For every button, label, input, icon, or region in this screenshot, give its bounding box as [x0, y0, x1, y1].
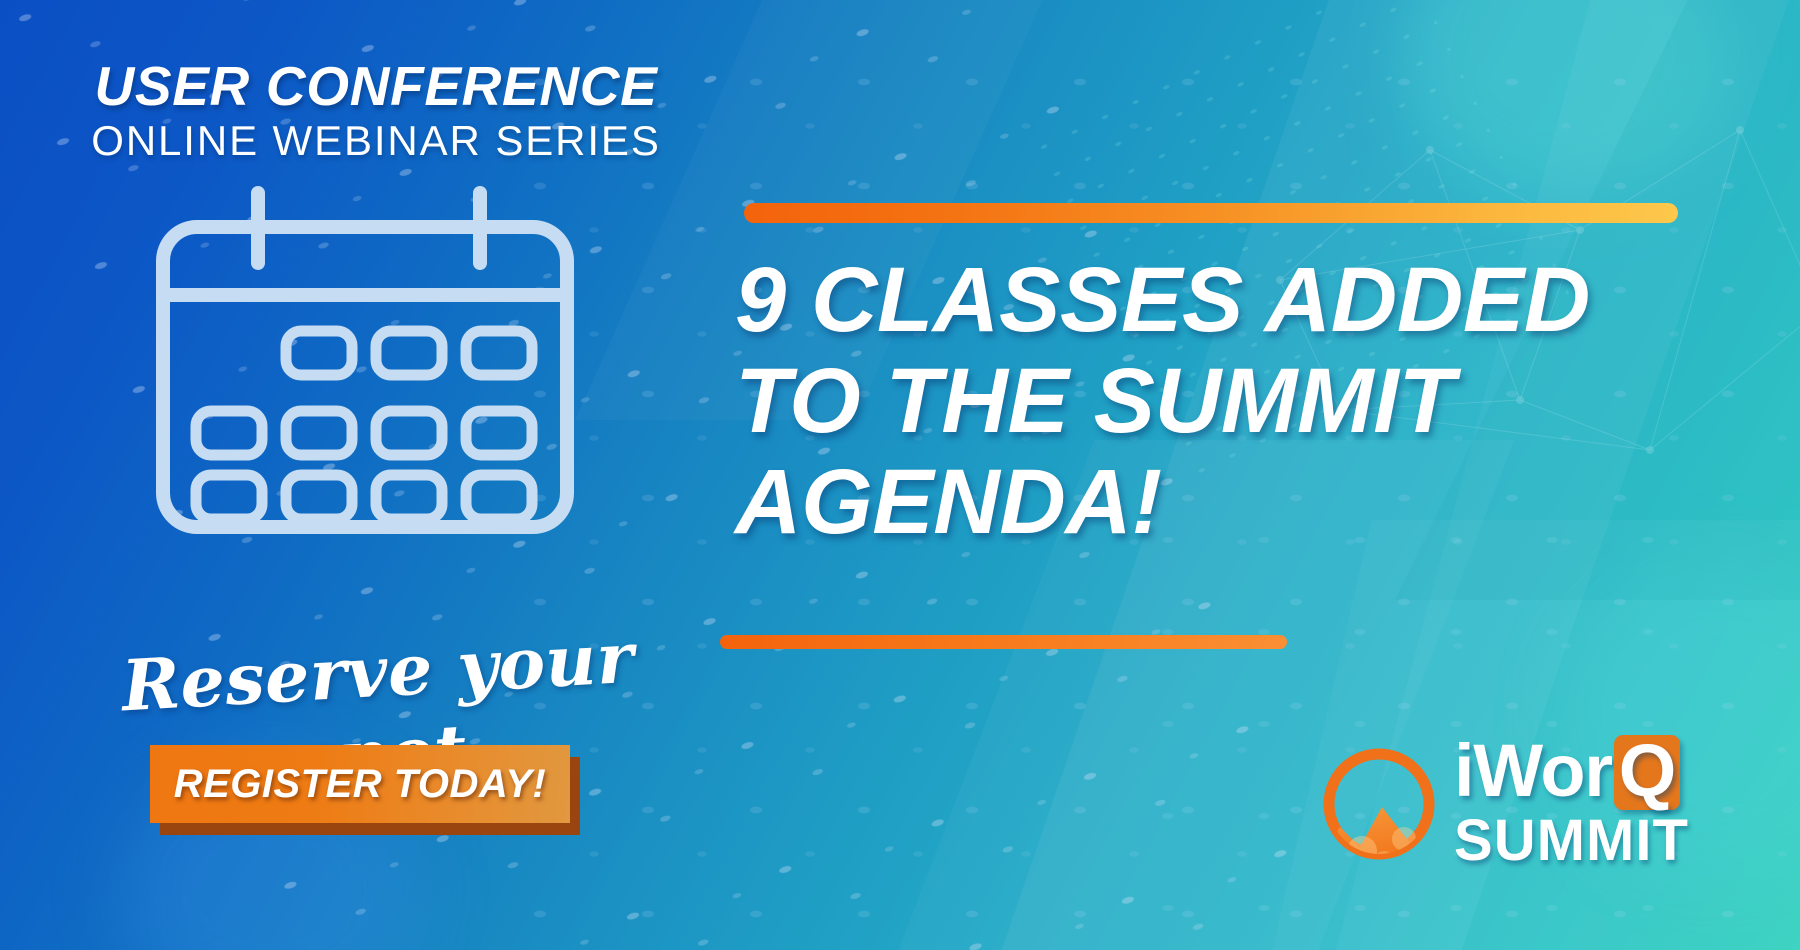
logo-subtitle: SUMMIT [1454, 812, 1754, 870]
bottom-accent-rule [720, 635, 1287, 649]
iworq-summit-logo: iWorQ SUMMIT [1318, 735, 1758, 915]
top-accent-rule [744, 203, 1678, 223]
logo-wordmark: iWorQ SUMMIT [1454, 735, 1754, 870]
right-column: 9 CLASSES ADDED TO THE SUMMIT AGENDA! [0, 0, 1800, 950]
headline-line-3: AGENDA! [735, 452, 1745, 553]
logo-word-prefix: iWor [1454, 729, 1612, 812]
headline-line-1: 9 CLASSES ADDED [735, 250, 1745, 351]
logo-q-badge: Q [1614, 735, 1680, 810]
logo-word-iworq: iWorQ [1454, 735, 1754, 810]
headline: 9 CLASSES ADDED TO THE SUMMIT AGENDA! [735, 250, 1745, 554]
mountain-circle-icon [1318, 743, 1440, 865]
headline-line-2: TO THE SUMMIT [735, 351, 1745, 452]
promo-banner: USER CONFERENCE ONLINE WEBINAR SERIES [0, 0, 1800, 950]
